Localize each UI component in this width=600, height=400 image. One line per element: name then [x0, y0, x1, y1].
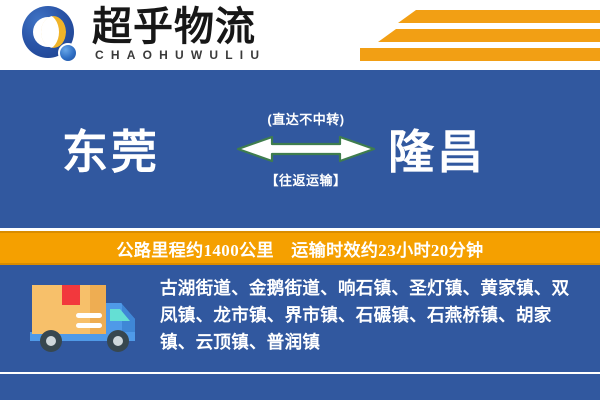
- header-stripe-decoration: [360, 8, 600, 64]
- brand-name-pinyin: CHAOHUWULIU: [95, 48, 266, 62]
- logistics-route-banner: 超乎物流 CHAOHUWULIU 东莞 (直达不中转) 【往返运输】 隆昌 公路…: [0, 0, 600, 400]
- coverage-area-panel: 古湖街道、金鹅街道、响石镇、圣灯镇、黄家镇、双凤镇、龙市镇、界市镇、石碾镇、石燕…: [0, 265, 600, 372]
- coverage-area-list: 古湖街道、金鹅街道、响石镇、圣灯镇、黄家镇、双凤镇、龙市镇、界市镇、石碾镇、石燕…: [160, 275, 585, 356]
- stripe-top: [398, 10, 600, 23]
- route-note-direct: (直达不中转): [236, 109, 376, 128]
- banner-header: 超乎物流 CHAOHUWULIU: [0, 0, 600, 70]
- route-distance-duration-text: 公路里程约1400公里 运输时效约23小时20分钟: [117, 236, 484, 261]
- route-center-group: (直达不中转) 【往返运输】: [236, 109, 376, 189]
- route-note-roundtrip: 【往返运输】: [236, 170, 376, 189]
- logo-crescent-icon: [41, 16, 66, 48]
- double-headed-arrow-icon: [236, 134, 376, 164]
- delivery-truck-icon: [22, 277, 142, 355]
- origin-city-name: 东莞: [62, 116, 160, 182]
- logo-dot-shape: [58, 43, 78, 63]
- footer-strip: [0, 374, 600, 400]
- stripe-middle: [378, 29, 600, 42]
- route-info-bar: 公路里程约1400公里 运输时效约23小时20分钟: [0, 231, 600, 265]
- chaohu-circle-logo-icon: [22, 6, 80, 64]
- route-panel: 东莞 (直达不中转) 【往返运输】 隆昌: [0, 70, 600, 228]
- brand-name-chinese: 超乎物流: [92, 6, 256, 48]
- stripe-bottom: [360, 48, 600, 61]
- destination-city-name: 隆昌: [388, 116, 486, 182]
